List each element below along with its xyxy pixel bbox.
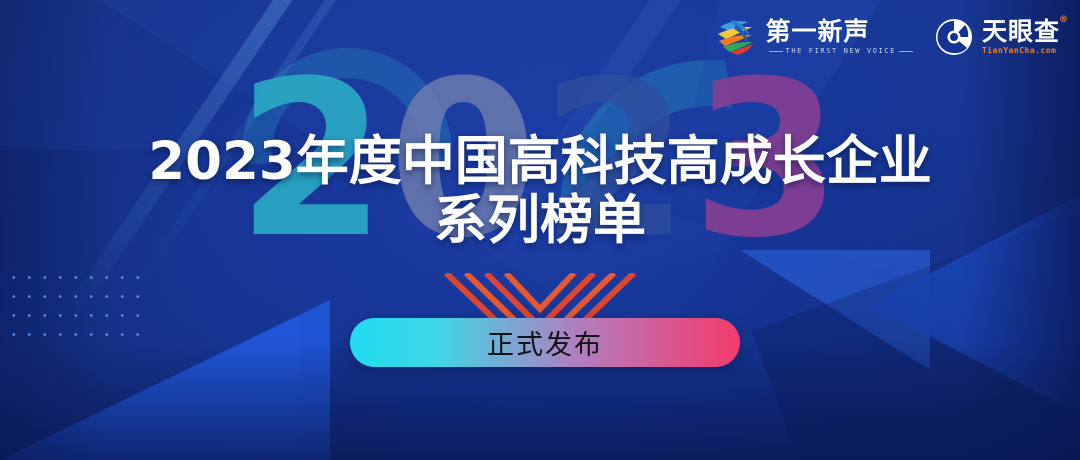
logo-bar: 第一新声 THE FIRST NEW VOICE 天眼查® TianYanCha… (714, 12, 1061, 62)
logo-diyixinsheng[interactable]: 第一新声 THE FIRST NEW VOICE (714, 17, 916, 57)
release-cta-label: 正式发布 (487, 323, 603, 362)
diyixinsheng-logo-text: 第一新声 THE FIRST NEW VOICE (766, 19, 916, 55)
headline: 2023年度中国高科技高成长企业 系列榜单 (0, 134, 1080, 248)
diyixinsheng-swirl-logo-icon (714, 17, 758, 57)
dot-grid-decoration (6, 268, 152, 350)
headline-line-1: 2023年度中国高科技高成长企业 (148, 131, 932, 192)
headline-line-2: 系列榜单 (0, 193, 1080, 248)
announcement-banner: 2023 2023年度中国高科技高成长企业 系列榜单 正式发布 (0, 0, 1080, 460)
release-cta-button[interactable]: 正式发布 (350, 318, 740, 367)
tianyancha-logo-text: 天眼查® TianYanCha.com (982, 19, 1060, 55)
logo-tianyancha[interactable]: 天眼查® TianYanCha.com (934, 17, 1060, 57)
diyixinsheng-tagline: THE FIRST NEW VOICE (766, 47, 916, 55)
tianyancha-eye-logo-icon (934, 17, 974, 57)
diyixinsheng-name-cn: 第一新声 (766, 19, 916, 45)
registered-mark: ® (1059, 16, 1069, 25)
tianyancha-tagline: TianYanCha.com (982, 46, 1060, 55)
tianyancha-name-cn: 天眼查® (982, 19, 1060, 45)
